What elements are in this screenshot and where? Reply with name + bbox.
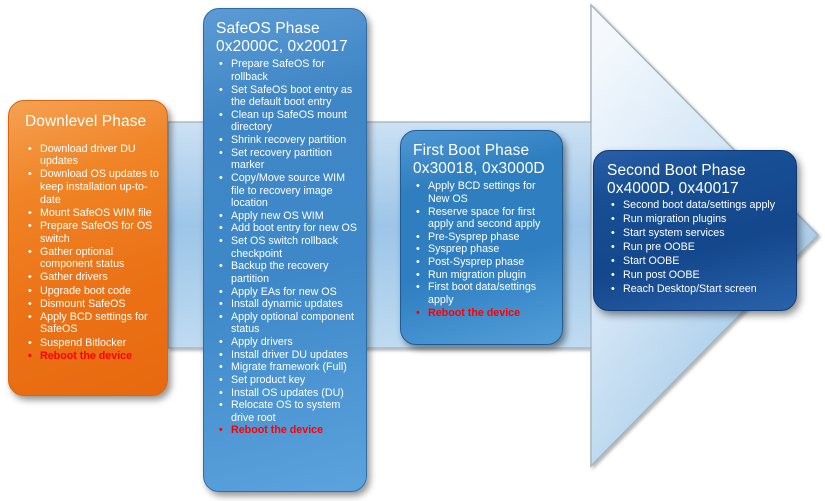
bullet-icon: • bbox=[219, 147, 223, 160]
bullet-icon: • bbox=[28, 337, 32, 350]
phase-item-list-first-boot: •Apply BCD settings for New OS •Reserve … bbox=[415, 180, 556, 319]
list-item-text: Dismount SafeOS bbox=[40, 298, 126, 310]
list-item-text: Backup the recovery partition bbox=[231, 260, 328, 285]
list-item: •Run pre OOBE bbox=[610, 241, 790, 254]
list-item-text: Second boot data/settings apply bbox=[623, 199, 775, 211]
list-item: •Set product key bbox=[218, 374, 360, 387]
bullet-icon: • bbox=[219, 336, 223, 349]
bullet-icon: • bbox=[219, 298, 223, 311]
list-item-text: Gather drivers bbox=[40, 271, 108, 283]
phase-item-list-second-boot: •Second boot data/settings apply •Run mi… bbox=[610, 199, 790, 295]
list-item: •Set SafeOS boot entry as the default bo… bbox=[218, 84, 360, 109]
list-item: •Sysprep phase bbox=[415, 243, 556, 256]
bullet-icon: • bbox=[28, 246, 32, 259]
bullet-icon: • bbox=[416, 256, 420, 269]
list-item: •Download driver DU updates bbox=[27, 143, 159, 168]
phase-title-downlevel: Downlevel Phase bbox=[25, 113, 167, 131]
list-item: •Clean up SafeOS mount directory bbox=[218, 109, 360, 134]
bullet-icon: • bbox=[416, 243, 420, 256]
list-item: •Apply new OS WIM bbox=[218, 210, 360, 223]
list-item-text: Install driver DU updates bbox=[231, 349, 348, 361]
bullet-icon: • bbox=[219, 361, 223, 374]
list-item-text: Run post OOBE bbox=[623, 269, 700, 281]
bullet-icon: • bbox=[416, 307, 420, 320]
phase-codes-text: 0x30018, 0x3000D bbox=[413, 160, 545, 177]
list-item-text: First boot data/settings apply bbox=[428, 281, 536, 306]
list-item: •Start system services bbox=[610, 227, 790, 240]
list-item: •Apply optional component status bbox=[218, 311, 360, 336]
phase-title-second-boot: Second Boot Phase0x4000D, 0x40017 bbox=[607, 162, 796, 197]
list-item: •Gather optional component status bbox=[27, 246, 159, 271]
bullet-icon: • bbox=[219, 387, 223, 400]
list-item: •Pre-Sysprep phase bbox=[415, 231, 556, 244]
bullet-icon: • bbox=[219, 134, 223, 147]
phase-box-downlevel[interactable]: Downlevel Phase •Download driver DU upda… bbox=[8, 100, 168, 396]
list-item: •Install OS updates (DU) bbox=[218, 387, 360, 400]
bullet-icon: • bbox=[416, 180, 420, 193]
list-item: •Shrink recovery partition bbox=[218, 134, 360, 147]
bullet-icon: • bbox=[219, 374, 223, 387]
bullet-icon: • bbox=[219, 210, 223, 223]
phase-title-text: Second Boot Phase bbox=[607, 162, 746, 179]
list-item: •Backup the recovery partition bbox=[218, 260, 360, 285]
bullet-icon: • bbox=[611, 255, 615, 268]
list-item-text: Download OS updates to keep installation… bbox=[40, 168, 159, 205]
list-item-text: Set OS switch rollback checkpoint bbox=[231, 235, 338, 260]
list-item: •Prepare SafeOS for OS switch bbox=[27, 220, 159, 245]
list-item: •Run migration plugin bbox=[415, 269, 556, 282]
bullet-icon: • bbox=[219, 222, 223, 235]
list-item-text: Apply new OS WIM bbox=[231, 210, 324, 222]
phase-item-list-safeos: •Prepare SafeOS for rollback •Set SafeOS… bbox=[218, 58, 360, 437]
bullet-icon: • bbox=[219, 349, 223, 362]
list-item-text: Post-Sysprep phase bbox=[428, 256, 524, 268]
list-item-text: Reboot the device bbox=[40, 350, 132, 362]
list-item-text: Copy/Move source WIM file to recovery im… bbox=[231, 172, 345, 209]
bullet-icon: • bbox=[219, 172, 223, 185]
list-item: •Gather drivers bbox=[27, 271, 159, 284]
list-item: •Run post OOBE bbox=[610, 269, 790, 282]
list-item-text: Reach Desktop/Start screen bbox=[623, 283, 757, 295]
list-item: •Suspend Bitlocker bbox=[27, 337, 159, 350]
list-item: •Install dynamic updates bbox=[218, 298, 360, 311]
list-item-text: Install OS updates (DU) bbox=[231, 387, 344, 399]
list-item-text: Relocate OS to system drive root bbox=[231, 399, 340, 424]
list-item: •Apply BCD settings for New OS bbox=[415, 180, 556, 205]
phase-box-safeos[interactable]: SafeOS Phase0x2000C, 0x20017 •Prepare Sa… bbox=[203, 8, 367, 492]
list-item-text: Gather optional component status bbox=[40, 246, 124, 271]
list-item: •First boot data/settings apply bbox=[415, 281, 556, 306]
list-item-text: Start OOBE bbox=[623, 255, 679, 267]
phase-box-first-boot[interactable]: First Boot Phase0x30018, 0x3000D •Apply … bbox=[400, 130, 563, 345]
bullet-icon: • bbox=[611, 227, 615, 240]
list-item: •Download OS updates to keep installatio… bbox=[27, 168, 159, 206]
list-item-text: Apply BCD settings for New OS bbox=[428, 180, 536, 205]
list-item: •Apply drivers bbox=[218, 336, 360, 349]
bullet-icon: • bbox=[416, 269, 420, 282]
phase-title-text: First Boot Phase bbox=[413, 142, 529, 159]
list-item: •Apply EAs for new OS bbox=[218, 286, 360, 299]
bullet-icon: • bbox=[28, 220, 32, 233]
bullet-icon: • bbox=[219, 109, 223, 122]
list-item: •Migrate framework (Full) bbox=[218, 361, 360, 374]
phase-item-list-downlevel: •Download driver DU updates •Download OS… bbox=[27, 143, 159, 363]
list-item: •Install driver DU updates bbox=[218, 349, 360, 362]
bullet-icon: • bbox=[611, 269, 615, 282]
list-item-text: Set SafeOS boot entry as the default boo… bbox=[231, 84, 352, 109]
list-item-text: Install dynamic updates bbox=[231, 298, 343, 310]
bullet-icon: • bbox=[28, 271, 32, 284]
list-item: •Relocate OS to system drive root bbox=[218, 399, 360, 424]
list-item-text: Upgrade boot code bbox=[40, 285, 131, 297]
phase-codes-text: 0x2000C, 0x20017 bbox=[216, 38, 348, 55]
list-item: •Set recovery partition marker bbox=[218, 147, 360, 172]
list-item-text: Reserve space for first apply and second… bbox=[428, 206, 540, 231]
list-item-text: Start system services bbox=[623, 227, 725, 239]
phase-title-safeos: SafeOS Phase0x2000C, 0x20017 bbox=[216, 20, 366, 55]
bullet-icon: • bbox=[28, 311, 32, 324]
bullet-icon: • bbox=[28, 168, 32, 181]
list-item-text: Download driver DU updates bbox=[40, 143, 136, 168]
list-item: •Mount SafeOS WIM file bbox=[27, 207, 159, 220]
list-item-text: Apply drivers bbox=[231, 336, 293, 348]
list-item-text: Shrink recovery partition bbox=[231, 134, 346, 146]
bullet-icon: • bbox=[28, 285, 32, 298]
bullet-icon: • bbox=[611, 199, 615, 212]
phase-title-text: SafeOS Phase bbox=[216, 20, 320, 37]
bullet-icon: • bbox=[28, 143, 32, 156]
bullet-icon: • bbox=[219, 58, 223, 71]
list-item: •Dismount SafeOS bbox=[27, 298, 159, 311]
bullet-icon: • bbox=[219, 286, 223, 299]
bullet-icon: • bbox=[28, 207, 32, 220]
list-item: •Apply BCD settings for SafeOS bbox=[27, 311, 159, 336]
list-item-reboot: •Reboot the device bbox=[415, 307, 556, 320]
list-item: •Reach Desktop/Start screen bbox=[610, 283, 790, 296]
list-item-text: Clean up SafeOS mount directory bbox=[231, 109, 347, 134]
bullet-icon: • bbox=[219, 399, 223, 412]
diagram-canvas: Downlevel Phase •Download driver DU upda… bbox=[0, 0, 825, 501]
list-item-text: Migrate framework (Full) bbox=[231, 361, 347, 373]
list-item: •Set OS switch rollback checkpoint bbox=[218, 235, 360, 260]
list-item-reboot: •Reboot the device bbox=[218, 424, 360, 437]
list-item-text: Prepare SafeOS for OS switch bbox=[40, 220, 152, 245]
list-item-text: Run migration plugins bbox=[623, 213, 726, 225]
bullet-icon: • bbox=[219, 311, 223, 324]
list-item-text: Run pre OOBE bbox=[623, 241, 695, 253]
list-item-text: Prepare SafeOS for rollback bbox=[231, 58, 325, 83]
list-item-text: Mount SafeOS WIM file bbox=[40, 207, 152, 219]
bullet-icon: • bbox=[219, 260, 223, 273]
bullet-icon: • bbox=[219, 424, 223, 437]
bullet-icon: • bbox=[416, 206, 420, 219]
bullet-icon: • bbox=[219, 84, 223, 97]
list-item: •Start OOBE bbox=[610, 255, 790, 268]
list-item: •Second boot data/settings apply bbox=[610, 199, 790, 212]
phase-title-first-boot: First Boot Phase0x30018, 0x3000D bbox=[413, 142, 562, 177]
list-item-text: Add boot entry for new OS bbox=[231, 222, 357, 234]
list-item: •Reserve space for first apply and secon… bbox=[415, 206, 556, 231]
phase-codes-text: 0x4000D, 0x40017 bbox=[607, 180, 739, 197]
list-item-reboot: •Reboot the device bbox=[27, 350, 159, 363]
list-item-text: Apply BCD settings for SafeOS bbox=[40, 311, 148, 336]
list-item: •Copy/Move source WIM file to recovery i… bbox=[218, 172, 360, 210]
list-item-text: Reboot the device bbox=[231, 424, 323, 436]
list-item-text: Pre-Sysprep phase bbox=[428, 231, 520, 243]
list-item: •Prepare SafeOS for rollback bbox=[218, 58, 360, 83]
bullet-icon: • bbox=[28, 298, 32, 311]
list-item-text: Suspend Bitlocker bbox=[40, 337, 126, 349]
bullet-icon: • bbox=[611, 213, 615, 226]
bullet-icon: • bbox=[611, 241, 615, 254]
bullet-icon: • bbox=[28, 350, 32, 363]
list-item-text: Set product key bbox=[231, 374, 305, 386]
list-item: •Add boot entry for new OS bbox=[218, 222, 360, 235]
list-item-text: Set recovery partition marker bbox=[231, 147, 332, 172]
list-item-text: Run migration plugin bbox=[428, 269, 526, 281]
list-item-text: Sysprep phase bbox=[428, 243, 499, 255]
bullet-icon: • bbox=[416, 231, 420, 244]
list-item: •Run migration plugins bbox=[610, 213, 790, 226]
list-item-text: Apply EAs for new OS bbox=[231, 286, 337, 298]
bullet-icon: • bbox=[219, 235, 223, 248]
phase-box-second-boot[interactable]: Second Boot Phase0x4000D, 0x40017 •Secon… bbox=[593, 150, 797, 311]
list-item: •Upgrade boot code bbox=[27, 285, 159, 298]
bullet-icon: • bbox=[611, 283, 615, 296]
list-item: •Post-Sysprep phase bbox=[415, 256, 556, 269]
list-item-text: Reboot the device bbox=[428, 307, 520, 319]
list-item-text: Apply optional component status bbox=[231, 311, 354, 336]
bullet-icon: • bbox=[416, 281, 420, 294]
